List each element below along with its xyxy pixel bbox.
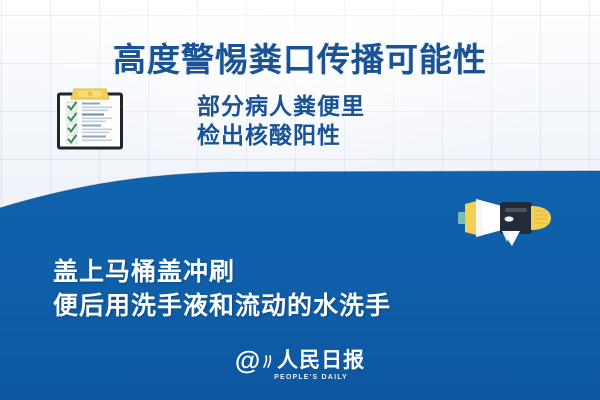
at-symbol-icon: @ [235,348,259,372]
logo-english-name: PEOPLE'S DAILY [0,374,600,381]
publisher-logo: @ 人民日报 PEOPLE'S DAILY [0,348,600,381]
subheadline-line-2: 检出核酸阳性 [197,121,365,150]
subheadline-line-1: 部分病人粪便里 [197,92,365,121]
subheadline: 部分病人粪便里 检出核酸阳性 [197,92,365,150]
advice-text: 盖上马桶盖冲刷 便后用洗手液和流动的水洗手 [53,255,391,323]
logo-row: @ 人民日报 [235,348,365,372]
megaphone-icon [458,190,554,246]
page-title: 高度警惕粪口传播可能性 [0,33,600,81]
logo-chinese-name: 人民日报 [277,350,365,372]
clipboard-checklist-icon [57,88,123,150]
infographic-poster: 高度警惕粪口传播可能性 [0,0,600,400]
advice-line-1: 盖上马桶盖冲刷 [53,255,391,289]
wifi-waves-icon [262,355,274,369]
advice-line-2: 便后用洗手液和流动的水洗手 [53,289,391,323]
